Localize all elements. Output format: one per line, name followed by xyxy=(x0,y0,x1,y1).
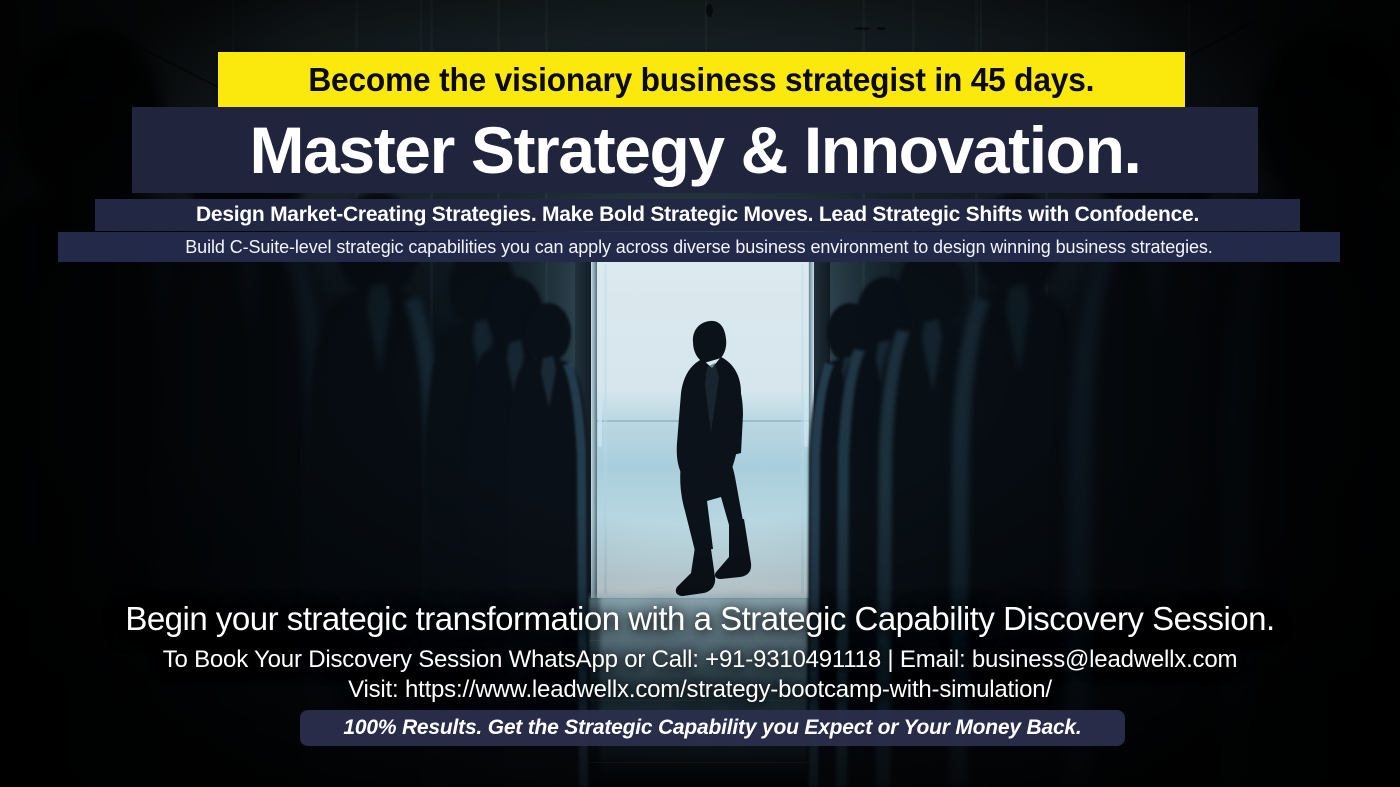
cta-contact-line[interactable]: To Book Your Discovery Session WhatsApp … xyxy=(0,646,1400,674)
cta-headline: Begin your strategic transformation with… xyxy=(0,600,1400,638)
poster-canvas: Become the visionary business strategist… xyxy=(0,0,1400,787)
headline-text: Master Strategy & Innovation. xyxy=(250,117,1141,183)
guarantee-text: 100% Results. Get the Strategic Capabili… xyxy=(343,716,1081,740)
description-banner: Build C-Suite-level strategic capabiliti… xyxy=(58,232,1340,262)
subheadline-banner: Design Market-Creating Strategies. Make … xyxy=(95,199,1300,231)
description-text: Build C-Suite-level strategic capabiliti… xyxy=(185,237,1212,258)
cta-website-line[interactable]: Visit: https://www.leadwellx.com/strateg… xyxy=(0,676,1400,704)
eyebrow-banner: Become the visionary business strategist… xyxy=(218,52,1185,107)
subheadline-text: Design Market-Creating Strategies. Make … xyxy=(196,203,1199,227)
cta-block: Begin your strategic transformation with… xyxy=(0,600,1400,704)
headline-banner: Master Strategy & Innovation. xyxy=(132,107,1258,193)
guarantee-banner: 100% Results. Get the Strategic Capabili… xyxy=(300,710,1125,746)
eyebrow-text: Become the visionary business strategist… xyxy=(309,61,1095,99)
